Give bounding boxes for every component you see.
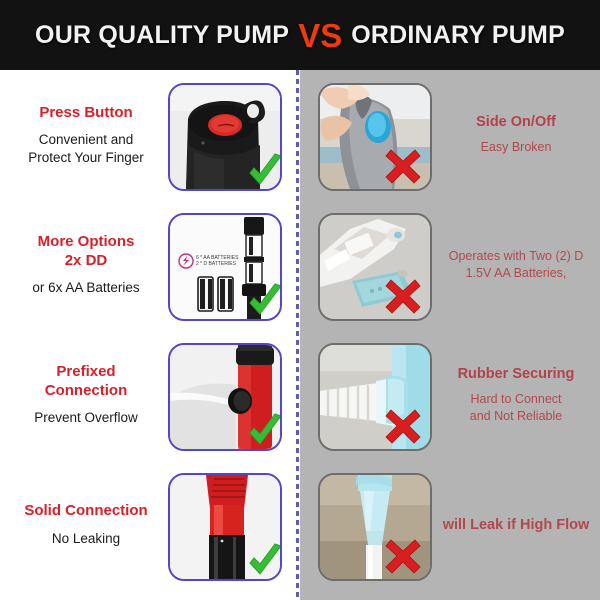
left-row-3-subtext: Prevent Overflow (34, 409, 138, 427)
left-row-4-subtext-line-1: No Leaking (52, 530, 120, 548)
header-banner: OUR QUALITY PUMP VS ORDINARY PUMP (0, 0, 600, 70)
solid-connection-photo (170, 475, 280, 579)
left-row-1-photo-panel[interactable] (168, 83, 282, 191)
ordinary-battery-photo (320, 215, 430, 319)
right-row-1-heading: Side On/Off (476, 113, 556, 131)
left-row-press-button: Press Button Convenient and Protect Your… (0, 70, 296, 200)
prefixed-connection-photo (170, 345, 280, 449)
right-row-2-subtext-line-2: 1.5V AA Batteries, (449, 265, 584, 282)
left-row-3-heading-line-2: Connection (45, 382, 128, 400)
left-row-3-subtext-line-1: Prevent Overflow (34, 409, 138, 427)
right-row-rubber-securing: Rubber Securing Hard to Connect and Not … (300, 330, 600, 460)
right-row-1-text: Side On/Off Easy Broken (434, 70, 598, 200)
right-row-2-text: Operates with Two (2) D 1.5V AA Batterie… (434, 200, 598, 330)
rubber-securing-photo (320, 345, 430, 449)
right-row-3-subtext-line-2: and Not Reliable (470, 408, 562, 425)
left-row-prefixed-connection: Prefixed Connection Prevent Overflow (0, 330, 296, 460)
left-row-4-text: Solid Connection No Leaking (6, 460, 166, 590)
right-row-1-subtext: Easy Broken (481, 139, 552, 156)
right-row-3-text: Rubber Securing Hard to Connect and Not … (434, 330, 598, 460)
header-vs-label: VS (298, 19, 342, 52)
leak-funnel-photo (320, 475, 430, 579)
left-row-3-photo-panel[interactable] (168, 343, 282, 451)
right-row-side-onoff: Side On/Off Easy Broken (300, 70, 600, 200)
right-row-3-subtext-line-1: Hard to Connect (470, 391, 562, 408)
left-row-2-heading: More Options 2x DD (38, 233, 135, 270)
right-row-4-subtext-line-1: will Leak if High Flow (443, 515, 590, 535)
left-row-3-heading: Prefixed Connection (45, 363, 128, 400)
right-row-1-subtext-line-1: Easy Broken (481, 139, 552, 156)
right-row-3-photo-panel[interactable] (318, 343, 432, 451)
right-row-4-subtext: will Leak if High Flow (443, 515, 590, 535)
left-row-2-photo-panel[interactable]: 6 * AA BATTERIES 2 * D BATTERIES (168, 213, 282, 321)
side-switch-photo (320, 85, 430, 189)
right-row-2-subtext-line-1: Operates with Two (2) D (449, 248, 584, 265)
right-row-2-subtext: Operates with Two (2) D 1.5V AA Batterie… (449, 248, 584, 283)
right-row-leak: will Leak if High Flow (300, 460, 600, 590)
right-row-battery: Operates with Two (2) D 1.5V AA Batterie… (300, 200, 600, 330)
left-row-2-heading-line-2: 2x DD (38, 252, 135, 270)
right-row-3-subtext: Hard to Connect and Not Reliable (470, 391, 562, 426)
left-row-2-text: More Options 2x DD or 6x AA Batteries (6, 200, 166, 330)
left-row-1-subtext-line-1: Convenient and (28, 131, 144, 149)
pump-cap-photo (170, 85, 280, 189)
left-row-1-text: Press Button Convenient and Protect Your… (6, 70, 166, 200)
left-row-3-text: Prefixed Connection Prevent Overflow (6, 330, 166, 460)
right-row-3-heading: Rubber Securing (458, 365, 575, 383)
left-row-1-subtext-line-2: Protect Your Finger (28, 149, 144, 167)
left-row-2-heading-line-1: More Options (38, 233, 135, 251)
header-left-title: OUR QUALITY PUMP (35, 21, 289, 50)
left-row-4-heading: Solid Connection (24, 502, 147, 520)
right-row-2-photo-panel[interactable] (318, 213, 432, 321)
header-right-title: ORDINARY PUMP (351, 21, 565, 50)
left-row-1-heading: Press Button (39, 104, 132, 122)
left-row-4-photo-panel[interactable] (168, 473, 282, 581)
comparison-infographic: OUR QUALITY PUMP VS ORDINARY PUMP Press … (0, 0, 600, 600)
battery-label-line-2: 2 * D BATTERIES (196, 261, 237, 267)
left-row-4-subtext: No Leaking (52, 530, 120, 548)
right-row-4-photo-panel[interactable] (318, 473, 432, 581)
right-row-4-text: will Leak if High Flow (434, 460, 598, 590)
left-row-2-subtext: or 6x AA Batteries (32, 279, 139, 297)
left-row-3-heading-line-1: Prefixed (45, 363, 128, 381)
battery-tube-photo: 6 * AA BATTERIES 2 * D BATTERIES (170, 215, 280, 319)
left-row-2-subtext-line-1: or 6x AA Batteries (32, 279, 139, 297)
left-row-solid-connection: Solid Connection No Leaking (0, 460, 296, 590)
left-row-1-subtext: Convenient and Protect Your Finger (28, 131, 144, 167)
left-row-more-options: More Options 2x DD or 6x AA Batteries (0, 200, 296, 330)
right-row-1-photo-panel[interactable] (318, 83, 432, 191)
column-divider (296, 70, 299, 600)
